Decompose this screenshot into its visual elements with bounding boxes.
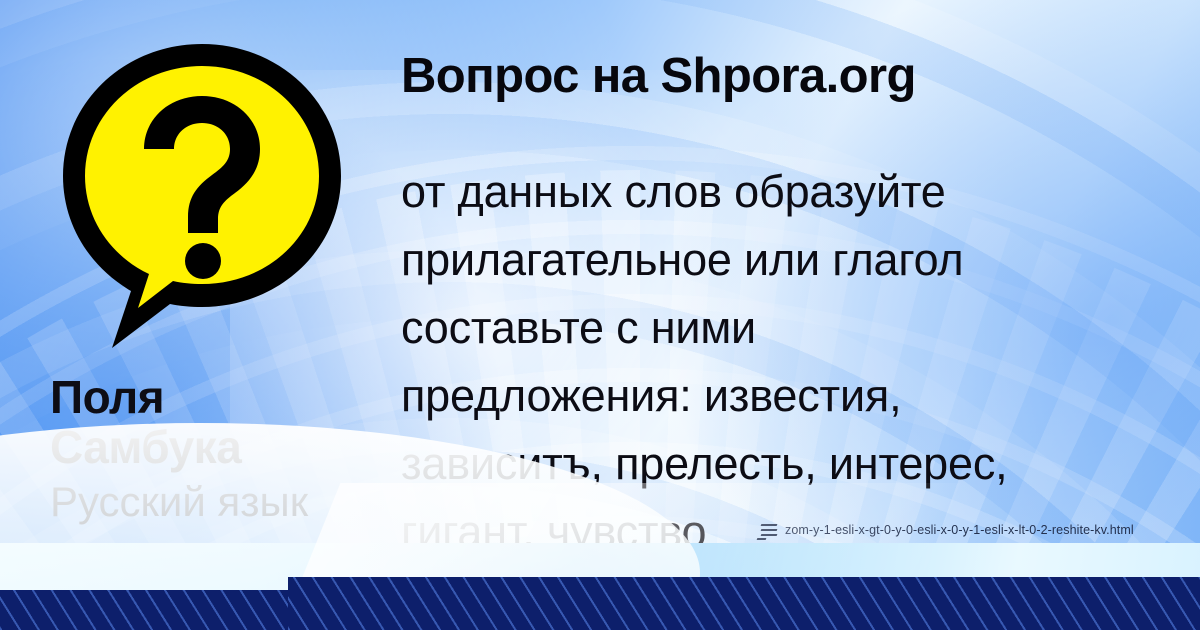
author-name-line-1: Поля xyxy=(50,372,390,422)
question-line: составьте с ними xyxy=(401,294,1161,362)
question-line: прилагательное или глагол xyxy=(401,226,1161,294)
share-card: Поля Самбука Русский язык Вопрос на Shpo… xyxy=(0,0,1200,630)
question-line: от данных слов образуйте xyxy=(401,158,1161,226)
footer-bar-right xyxy=(288,577,1200,630)
page-title: Вопрос на Shpora.org xyxy=(401,48,916,104)
question-speech-bubble-icon xyxy=(52,36,352,356)
question-line: предложения: известия, xyxy=(401,362,1161,430)
footer-bar-left xyxy=(0,590,288,630)
